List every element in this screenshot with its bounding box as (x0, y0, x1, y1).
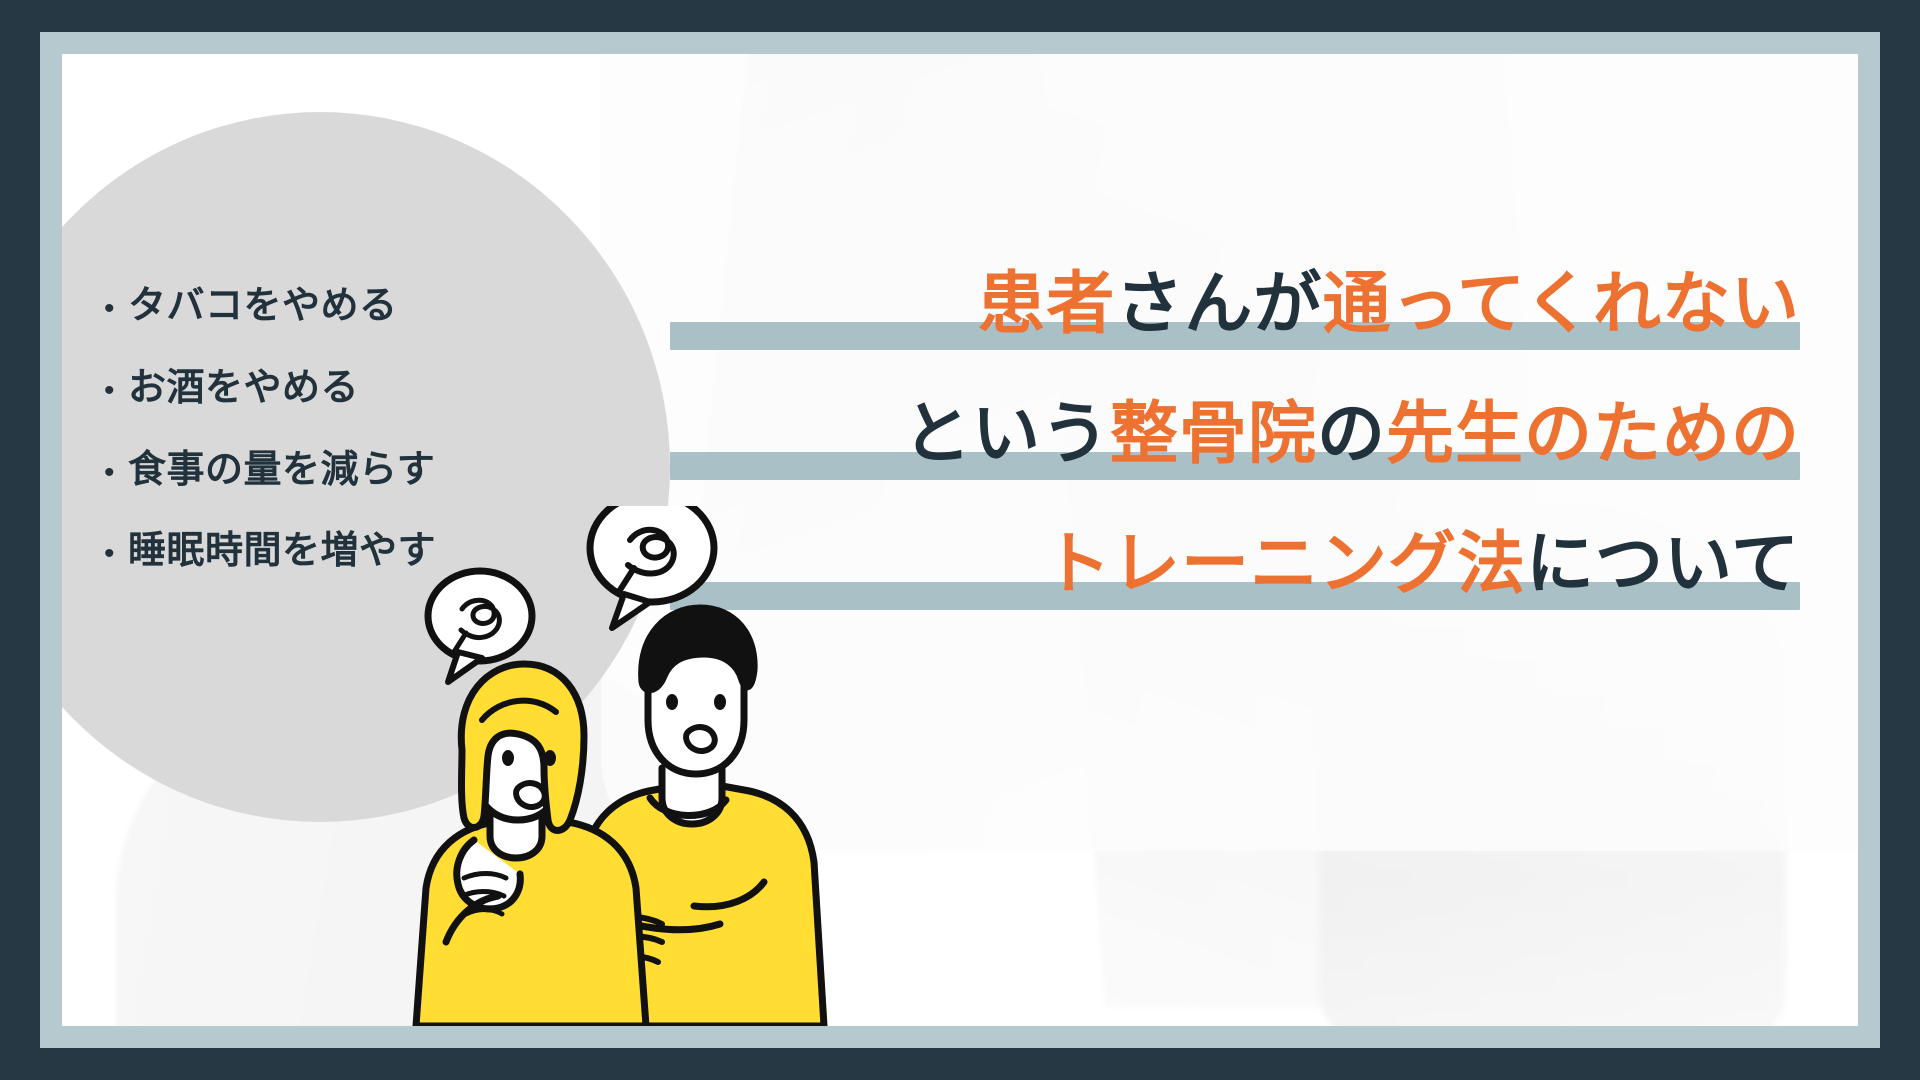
headline-segment-navy: の (1317, 396, 1386, 472)
headline-segment-orange: 整骨院 (1110, 396, 1317, 472)
headline-segment-orange: 患者 (977, 266, 1115, 342)
headline-line-2-text: という整骨院の先生のための (680, 380, 1800, 488)
person-woman (416, 664, 646, 1026)
headline-segment-navy: さんが (1115, 266, 1322, 342)
list-item: • 食事の量を減らす (104, 450, 574, 492)
slide-canvas: • タバコをやめる • お酒をやめる • 食事の量を減らす • 睡眠時間を増やす… (62, 54, 1858, 1026)
headline-line-1: 患者さんが通ってくれない (680, 250, 1800, 358)
illustration-two-people (362, 506, 922, 1026)
illustration-svg (362, 506, 922, 1026)
headline-segment-navy: という (903, 396, 1110, 472)
headline-segment-orange: トレーニング法 (1043, 526, 1526, 602)
bullet-marker-icon: • (104, 539, 128, 569)
headline-line-1-text: 患者さんが通ってくれない (680, 250, 1800, 358)
headline-segment-navy: について (1526, 526, 1800, 602)
list-item-label: お酒をやめる (128, 368, 359, 410)
headline-segment-orange: 通ってくれない (1322, 266, 1800, 342)
headline-segment-orange: 先生のための (1386, 396, 1800, 472)
bullet-marker-icon: • (104, 376, 128, 406)
list-item: • タバコをやめる (104, 286, 574, 328)
headline-line-2: という整骨院の先生のための (680, 380, 1800, 488)
bullet-marker-icon: • (104, 294, 128, 324)
bullet-marker-icon: • (104, 458, 128, 488)
list-item-label: 食事の量を減らす (128, 450, 435, 492)
list-item: • お酒をやめる (104, 368, 574, 410)
list-item-label: タバコをやめる (128, 286, 398, 328)
slide-root: • タバコをやめる • お酒をやめる • 食事の量を減らす • 睡眠時間を増やす… (0, 0, 1920, 1080)
